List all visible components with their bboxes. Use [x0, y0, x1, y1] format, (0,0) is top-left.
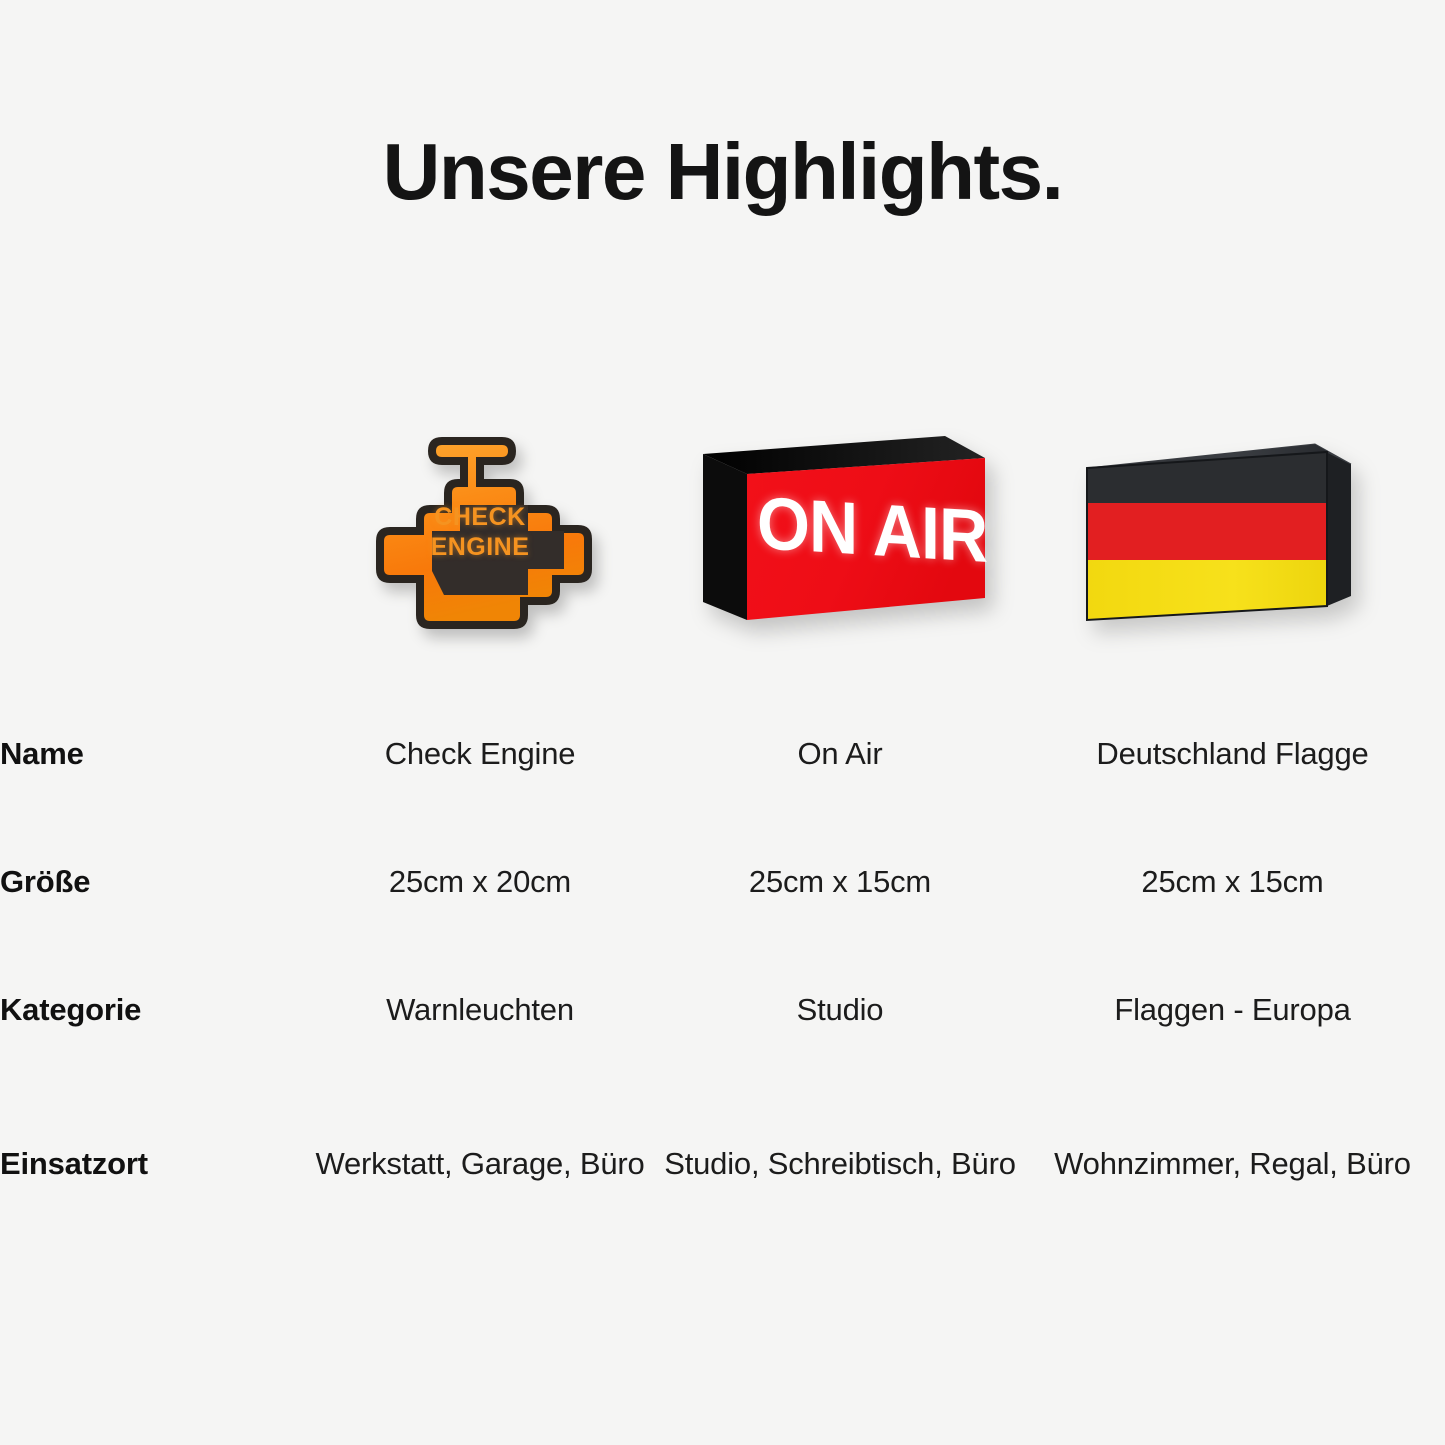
table-row-einsatzort: Einsatzort Werkstatt, Garage, Büro Studi…: [0, 1074, 1445, 1254]
germany-flag-lightbox: [1065, 430, 1365, 630]
product-image-on-air[interactable]: ON AIR: [660, 400, 1025, 660]
table-row-name: Name Check Engine On Air Deutschland Fla…: [0, 690, 1445, 818]
row-label-name: Name: [0, 690, 300, 818]
cell-kategorie-check-engine: Warnleuchten: [300, 946, 660, 1074]
row-label-groesse: Größe: [0, 818, 300, 946]
germany-flag-icon: [1065, 430, 1365, 630]
cell-name-check-engine: Check Engine: [300, 690, 660, 818]
cell-groesse-on-air: 25cm x 15cm: [660, 818, 1020, 946]
cell-kategorie-on-air: Studio: [660, 946, 1020, 1074]
row-label-kategorie: Kategorie: [0, 946, 300, 1074]
specification-table: Name Check Engine On Air Deutschland Fla…: [0, 690, 1445, 1254]
cell-kategorie-flagge: Flaggen - Europa: [1020, 946, 1445, 1074]
cell-groesse-flagge: 25cm x 15cm: [1020, 818, 1445, 946]
cell-einsatzort-on-air: Studio, Schreibtisch, Büro: [660, 1074, 1020, 1254]
highlights-page: Unsere Highlights.: [0, 0, 1445, 1445]
cell-name-flagge: Deutschland Flagge: [1020, 690, 1445, 818]
row-label-einsatzort: Einsatzort: [0, 1074, 300, 1254]
on-air-lightbox: ON AIR: [693, 430, 993, 630]
table-row-kategorie: Kategorie Warnleuchten Studio Flaggen - …: [0, 946, 1445, 1074]
cell-name-on-air: On Air: [660, 690, 1020, 818]
on-air-box-icon: [693, 430, 993, 630]
product-image-deutschland-flagge[interactable]: [1030, 400, 1400, 660]
product-image-row: CHECK ENGINE: [0, 400, 1445, 660]
check-engine-lamp: CHECK ENGINE: [332, 419, 628, 641]
cell-groesse-check-engine: 25cm x 20cm: [300, 818, 660, 946]
table-row-groesse: Größe 25cm x 20cm 25cm x 15cm 25cm x 15c…: [0, 818, 1445, 946]
page-title: Unsere Highlights.: [0, 132, 1445, 212]
check-engine-icon: [332, 419, 628, 641]
cell-einsatzort-flagge: Wohnzimmer, Regal, Büro: [1020, 1074, 1445, 1254]
product-image-check-engine[interactable]: CHECK ENGINE: [290, 400, 670, 660]
cell-einsatzort-check-engine: Werkstatt, Garage, Büro: [300, 1074, 660, 1254]
